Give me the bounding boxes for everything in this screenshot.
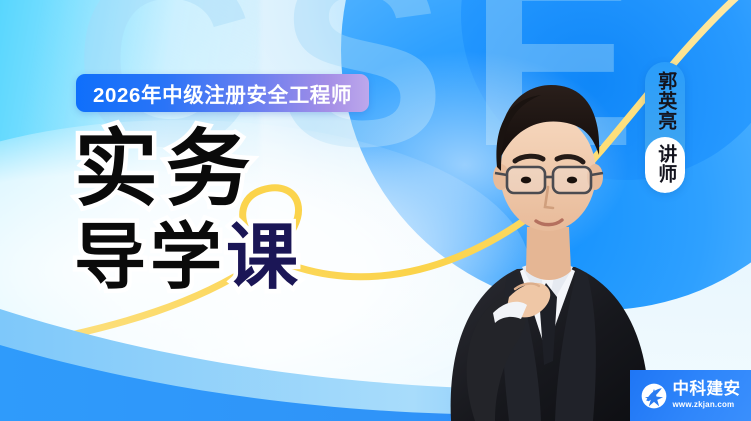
- instructor-role: 讲师: [654, 144, 676, 184]
- instructor-role-pill: 讲师: [645, 137, 685, 193]
- brand-url: www.zkjan.com: [673, 399, 735, 410]
- brand-logo-text: 中科建安 www.zkjan.com: [673, 381, 741, 410]
- brand-name: 中科建安: [673, 381, 741, 398]
- zkjan-logo-icon: [641, 383, 667, 409]
- headline-line-1: 实务: [74, 128, 302, 210]
- brand-logo[interactable]: 中科建安 www.zkjan.com: [630, 370, 751, 421]
- course-banner: CSE 2026年中级注册安全工程师 实务 导学课: [0, 0, 751, 421]
- course-category-badge: 2026年中级注册安全工程师: [76, 74, 369, 112]
- instructor-name: 郭英亮: [654, 71, 676, 131]
- instructor-name-pill: 郭英亮 讲师: [645, 62, 685, 193]
- headline-block: 实务 导学课: [74, 128, 302, 294]
